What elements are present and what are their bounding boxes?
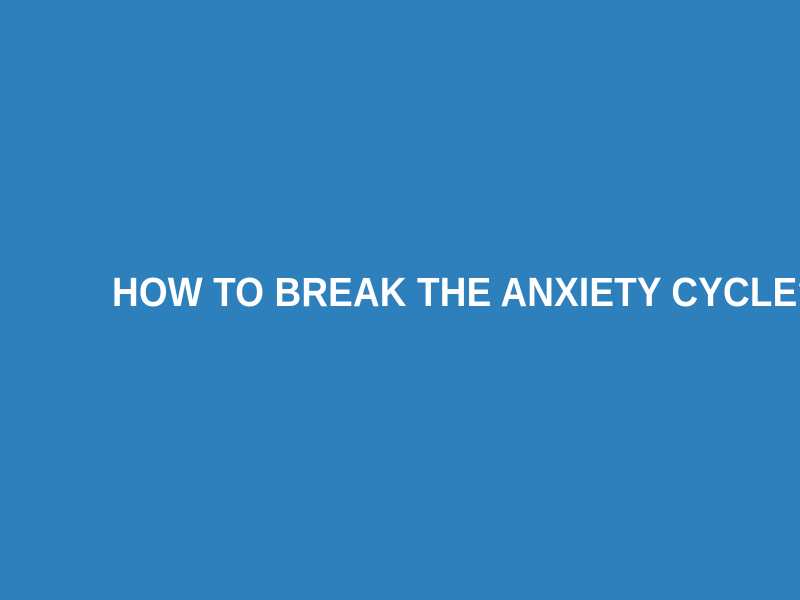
page-title: HOW TO BREAK THE ANXIETY CYCLE?	[112, 271, 688, 313]
title-card: HOW TO BREAK THE ANXIETY CYCLE?	[0, 0, 800, 600]
headline-container: HOW TO BREAK THE ANXIETY CYCLE?	[0, 267, 800, 317]
